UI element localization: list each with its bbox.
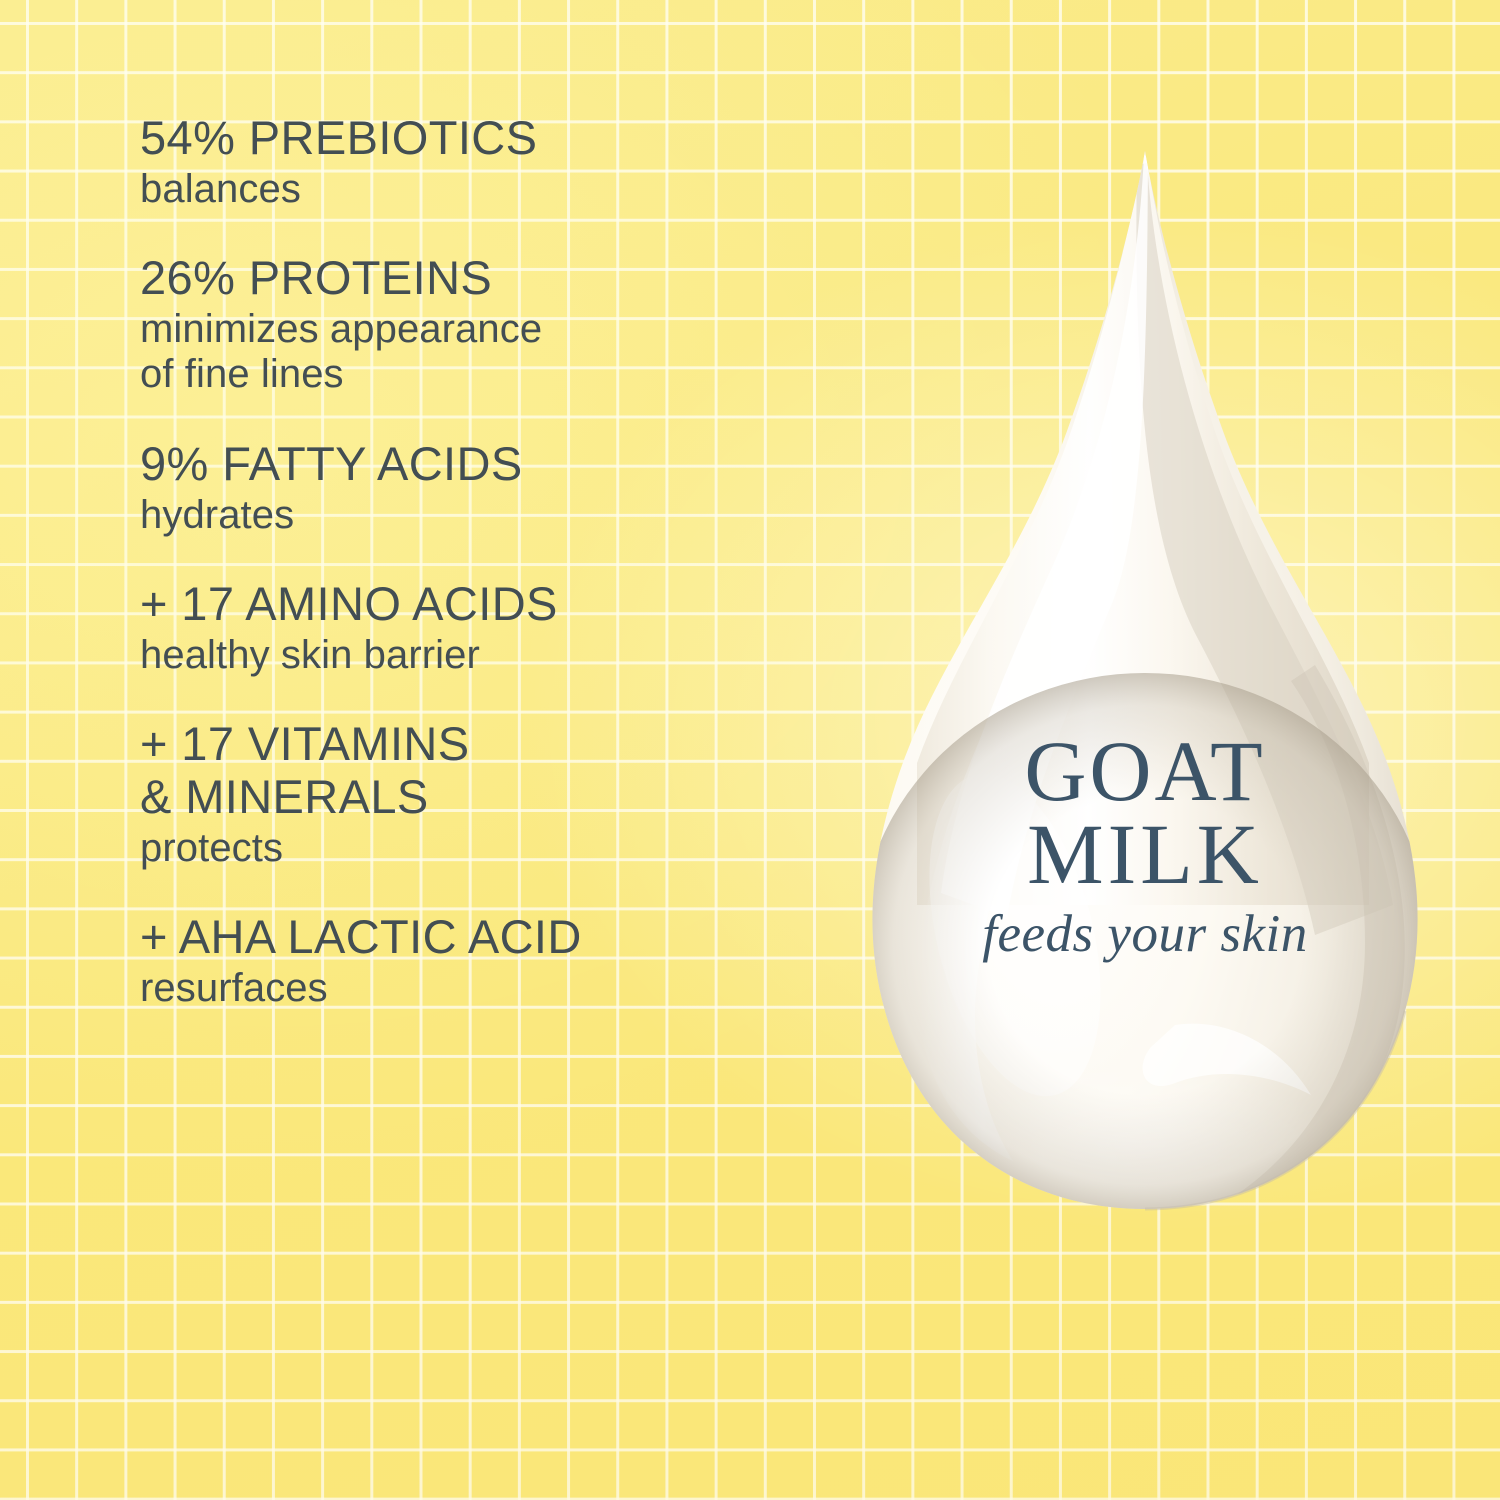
fact-item: + 17 AMINO ACIDS healthy skin barrier <box>140 578 860 678</box>
droplet-rim-shading <box>859 673 1431 1217</box>
ingredient-list: 54% PREBIOTICS balances 26% PROTEINS min… <box>140 112 860 1012</box>
fact-headline: + AHA LACTIC ACID <box>140 911 860 964</box>
fact-item: 54% PREBIOTICS balances <box>140 112 860 212</box>
fact-headline: + 17 VITAMINS & MINERALS <box>140 718 860 823</box>
fact-headline: 54% PREBIOTICS <box>140 112 860 165</box>
fact-item: 9% FATTY ACIDS hydrates <box>140 438 860 538</box>
fact-benefit: minimizes appearance of fine lines <box>140 307 860 398</box>
fact-item: + 17 VITAMINS & MINERALS protects <box>140 718 860 871</box>
milk-droplet-icon <box>845 145 1445 1215</box>
fact-item: + AHA LACTIC ACID resurfaces <box>140 911 860 1011</box>
fact-benefit: hydrates <box>140 493 860 539</box>
fact-headline: 9% FATTY ACIDS <box>140 438 860 491</box>
fact-benefit: resurfaces <box>140 966 860 1012</box>
fact-item: 26% PROTEINS minimizes appearance of fin… <box>140 252 860 398</box>
fact-benefit: protects <box>140 826 860 872</box>
fact-headline: + 17 AMINO ACIDS <box>140 578 860 631</box>
fact-benefit: balances <box>140 167 860 213</box>
product-infographic: 54% PREBIOTICS balances 26% PROTEINS min… <box>0 0 1500 1500</box>
fact-benefit: healthy skin barrier <box>140 633 860 679</box>
fact-headline: 26% PROTEINS <box>140 252 860 305</box>
milk-droplet-illustration <box>845 145 1445 1215</box>
